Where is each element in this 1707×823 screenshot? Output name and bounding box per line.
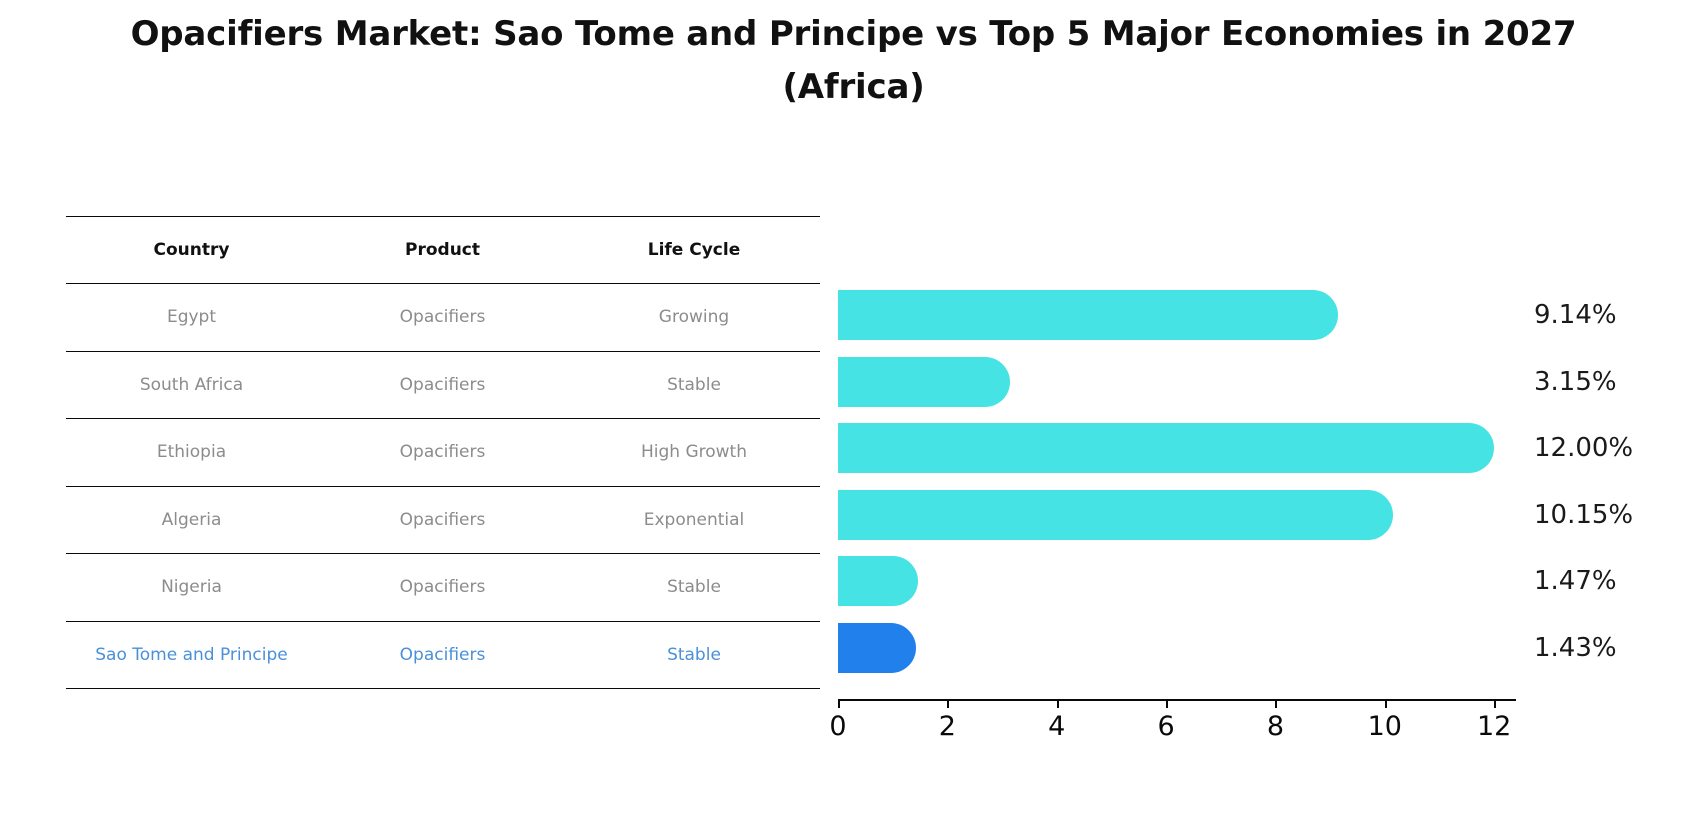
bar-nigeria: [838, 556, 918, 606]
cell-country: Ethiopia: [66, 419, 317, 487]
cell-life-cycle: High Growth: [568, 419, 820, 487]
x-axis-tick: [1385, 699, 1387, 708]
x-axis-tick-label: 4: [1048, 711, 1065, 742]
x-axis-tick: [1166, 699, 1168, 708]
cell-product: Opacifiers: [317, 351, 568, 419]
table-header: Country Product Life Cycle: [66, 217, 820, 284]
table-body: EgyptOpacifiersGrowingSouth AfricaOpacif…: [66, 284, 820, 689]
x-axis-line: [838, 699, 1516, 701]
bar-value-label: 1.47%: [1534, 566, 1617, 596]
bar-sao-tome-and-principe: [838, 623, 916, 673]
column-header-life-cycle: Life Cycle: [568, 217, 820, 284]
cell-life-cycle: Stable: [568, 351, 820, 419]
cell-product: Opacifiers: [317, 621, 568, 689]
cell-life-cycle: Stable: [568, 554, 820, 622]
bar-value-label: 9.14%: [1534, 300, 1617, 330]
table-header-row: Country Product Life Cycle: [66, 217, 820, 284]
table-row: Sao Tome and PrincipeOpacifiersStable: [66, 621, 820, 689]
x-axis: 024681012: [838, 699, 1516, 759]
x-axis-tick-label: 6: [1157, 711, 1174, 742]
cell-product: Opacifiers: [317, 486, 568, 554]
table-row: EthiopiaOpacifiersHigh Growth: [66, 419, 820, 487]
x-axis-tick: [1494, 699, 1496, 708]
bar-egypt: [838, 290, 1338, 340]
x-axis-tick: [1275, 699, 1277, 708]
bar-row: 3.15%: [838, 349, 1516, 416]
figure-canvas: Opacifiers Market: Sao Tome and Principe…: [0, 0, 1707, 823]
cell-life-cycle: Exponential: [568, 486, 820, 554]
cell-life-cycle: Stable: [568, 621, 820, 689]
column-header-product: Product: [317, 217, 568, 284]
x-axis-tick-label: 0: [829, 711, 846, 742]
bar-row: 1.43%: [838, 615, 1516, 682]
chart-title: Opacifiers Market: Sao Tome and Principe…: [0, 8, 1707, 113]
table-row: AlgeriaOpacifiersExponential: [66, 486, 820, 554]
cell-country: Algeria: [66, 486, 317, 554]
table-row: EgyptOpacifiersGrowing: [66, 284, 820, 352]
bar-value-label: 12.00%: [1534, 433, 1633, 463]
cell-country: Nigeria: [66, 554, 317, 622]
cell-life-cycle: Growing: [568, 284, 820, 352]
bar-south-africa: [838, 357, 1010, 407]
x-axis-tick-label: 8: [1267, 711, 1284, 742]
bar-value-label: 3.15%: [1534, 367, 1617, 397]
cell-product: Opacifiers: [317, 554, 568, 622]
bar-row: 10.15%: [838, 482, 1516, 549]
x-axis-tick: [1057, 699, 1059, 708]
country-info-table: Country Product Life Cycle EgyptOpacifie…: [66, 216, 820, 689]
bar-row: 1.47%: [838, 548, 1516, 615]
x-axis-tick: [947, 699, 949, 708]
cell-product: Opacifiers: [317, 284, 568, 352]
bar-row: 12.00%: [838, 415, 1516, 482]
cell-country: Egypt: [66, 284, 317, 352]
bar-value-label: 10.15%: [1534, 500, 1633, 530]
bar-chart-plot-area: 9.14%3.15%12.00%10.15%1.47%1.43%: [838, 282, 1516, 700]
bar-value-label: 1.43%: [1534, 633, 1617, 663]
country-info-table-wrapper: Country Product Life Cycle EgyptOpacifie…: [66, 216, 820, 689]
column-header-country: Country: [66, 217, 317, 284]
chart-title-line-2: (Africa): [0, 61, 1707, 114]
bar-algeria: [838, 490, 1393, 540]
x-axis-tick-label: 2: [939, 711, 956, 742]
x-axis-tick-label: 10: [1368, 711, 1402, 742]
chart-title-line-1: Opacifiers Market: Sao Tome and Principe…: [0, 8, 1707, 61]
x-axis-tick-label: 12: [1477, 711, 1511, 742]
cell-country: South Africa: [66, 351, 317, 419]
bar-ethiopia: [838, 423, 1494, 473]
cell-product: Opacifiers: [317, 419, 568, 487]
table-row: South AfricaOpacifiersStable: [66, 351, 820, 419]
x-axis-tick: [838, 699, 840, 708]
bar-row: 9.14%: [838, 282, 1516, 349]
cell-country: Sao Tome and Principe: [66, 621, 317, 689]
table-row: NigeriaOpacifiersStable: [66, 554, 820, 622]
